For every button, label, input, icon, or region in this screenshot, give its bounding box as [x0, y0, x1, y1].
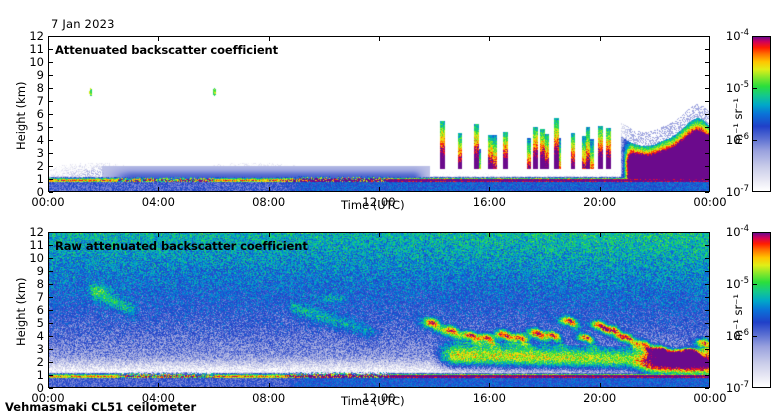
y-tick-label-panel1: 10	[17, 55, 44, 69]
panel-title-raw-attenuated-backscatter: Raw attenuated backscatter coefficient	[55, 239, 308, 253]
x-tick-panel2	[600, 383, 601, 387]
y-tick-right-panel2	[705, 362, 709, 363]
y-tick-label-panel2: 8	[17, 277, 44, 291]
x-tick-top-panel2	[709, 233, 710, 237]
y-tick-right-panel2	[705, 258, 709, 259]
x-tick-label-panel2: 08:00	[252, 391, 285, 405]
x-tick-panel1	[489, 187, 490, 191]
y-tick-panel2	[49, 349, 53, 350]
y-tick-panel2	[49, 271, 53, 272]
x-tick-top-panel1	[158, 37, 159, 41]
y-tick-panel1	[49, 101, 53, 102]
y-tick-right-panel1	[705, 127, 709, 128]
colorbar-gradient-panel2	[752, 232, 771, 388]
y-tick-right-panel2	[705, 271, 709, 272]
x-tick-top-panel2	[379, 233, 380, 237]
y-tick-panel1	[49, 49, 53, 50]
y-tick-label-panel1: 4	[17, 133, 44, 147]
x-tick-label-panel2: 20:00	[583, 391, 616, 405]
y-tick-right-panel2	[705, 388, 709, 389]
y-tick-panel1	[49, 153, 53, 154]
y-tick-right-panel1	[705, 114, 709, 115]
x-tick-top-panel2	[489, 233, 490, 237]
ceilometer-figure: 7 Jan 2023 Attenuated backscatter coeffi…	[0, 0, 780, 420]
colorbar-tick-panel1	[753, 36, 757, 37]
colorbar-tick-label-panel1: 10-4	[712, 29, 749, 43]
y-tick-label-panel1: 11	[17, 42, 44, 56]
y-tick-right-panel2	[705, 297, 709, 298]
colorbar-tick-panel2	[753, 336, 757, 337]
y-tick-label-panel1: 7	[17, 94, 44, 108]
y-tick-panel1	[49, 166, 53, 167]
y-tick-label-panel1: 6	[17, 107, 44, 121]
y-tick-label-panel1: 3	[17, 146, 44, 160]
x-tick-top-panel1	[600, 37, 601, 41]
y-tick-panel1	[49, 36, 53, 37]
x-tick-panel2	[709, 383, 710, 387]
y-tick-panel1	[49, 192, 53, 193]
x-tick-panel1	[600, 187, 601, 191]
colorbar-tick-panel1	[753, 88, 757, 89]
y-tick-label-panel2: 2	[17, 355, 44, 369]
colorbar-tick-label-panel1: 10-5	[712, 81, 749, 95]
y-tick-panel2	[49, 336, 53, 337]
y-tick-label-panel1: 8	[17, 81, 44, 95]
date-label: 7 Jan 2023	[51, 17, 115, 31]
y-tick-right-panel2	[705, 245, 709, 246]
colorbar-gradient-panel1	[752, 36, 771, 192]
colorbar-tick-label-panel1: 10-6	[712, 133, 749, 147]
y-tick-panel1	[49, 179, 53, 180]
y-tick-label-panel2: 5	[17, 316, 44, 330]
y-tick-panel2	[49, 258, 53, 259]
x-tick-label-panel2: 04:00	[142, 391, 175, 405]
y-tick-right-panel1	[705, 153, 709, 154]
y-tick-right-panel1	[705, 49, 709, 50]
x-tick-panel2	[489, 383, 490, 387]
x-tick-panel1	[709, 187, 710, 191]
y-tick-right-panel1	[705, 140, 709, 141]
plot-area-raw-attenuated-backscatter[interactable]	[48, 232, 710, 388]
y-tick-panel1	[49, 62, 53, 63]
y-tick-panel1	[49, 127, 53, 128]
x-tick-top-panel2	[269, 233, 270, 237]
plot-area-attenuated-backscatter[interactable]	[48, 36, 710, 192]
y-tick-right-panel2	[705, 310, 709, 311]
x-tick-top-panel1	[269, 37, 270, 41]
y-tick-label-panel2: 1	[17, 368, 44, 382]
x-tick-panel1	[48, 187, 49, 191]
y-tick-label-panel2: 11	[17, 238, 44, 252]
y-tick-label-panel2: 9	[17, 264, 44, 278]
y-tick-panel2	[49, 297, 53, 298]
colorbar-tick-panel1	[753, 140, 757, 141]
colorbar-tick-label-panel2: 10-6	[712, 329, 749, 343]
y-tick-right-panel2	[705, 336, 709, 337]
y-tick-panel2	[49, 362, 53, 363]
x-tick-top-panel1	[379, 37, 380, 41]
x-tick-top-panel1	[489, 37, 490, 41]
y-tick-panel2	[49, 388, 53, 389]
y-tick-label-panel1: 5	[17, 120, 44, 134]
y-tick-right-panel2	[705, 375, 709, 376]
x-tick-top-panel2	[600, 233, 601, 237]
y-tick-panel2	[49, 375, 53, 376]
x-tick-panel2	[269, 383, 270, 387]
y-tick-right-panel2	[705, 349, 709, 350]
y-tick-panel1	[49, 140, 53, 141]
y-tick-panel2	[49, 232, 53, 233]
colorbar-tick-panel2	[753, 284, 757, 285]
x-tick-label-panel1: 00:00	[31, 195, 64, 209]
x-tick-label-panel1: 12:00	[362, 195, 395, 209]
panel-title-attenuated-backscatter: Attenuated backscatter coefficient	[55, 43, 278, 57]
x-tick-label-panel1: 20:00	[583, 195, 616, 209]
y-tick-label-panel2: 4	[17, 329, 44, 343]
x-tick-panel2	[158, 383, 159, 387]
x-tick-panel2	[379, 383, 380, 387]
y-tick-right-panel2	[705, 323, 709, 324]
x-tick-panel1	[379, 187, 380, 191]
y-tick-label-panel1: 2	[17, 159, 44, 173]
y-tick-right-panel1	[705, 88, 709, 89]
x-tick-top-panel2	[158, 233, 159, 237]
x-tick-label-panel2: 16:00	[473, 391, 506, 405]
y-tick-panel1	[49, 75, 53, 76]
y-tick-label-panel2: 6	[17, 303, 44, 317]
y-tick-right-panel1	[705, 75, 709, 76]
y-tick-panel2	[49, 245, 53, 246]
y-tick-label-panel1: 9	[17, 68, 44, 82]
colorbar-tick-label-panel2: 10-7	[712, 381, 749, 395]
colorbar-tick-panel2	[753, 387, 757, 388]
colorbar-tick-panel2	[753, 232, 757, 233]
colorbar-tick-label-panel2: 10-5	[712, 277, 749, 291]
x-tick-label-panel1: 16:00	[473, 195, 506, 209]
y-tick-right-panel1	[705, 101, 709, 102]
y-tick-label-panel2: 12	[17, 225, 44, 239]
colorbar-tick-label-panel1: 10-7	[712, 185, 749, 199]
y-tick-label-panel2: 3	[17, 342, 44, 356]
x-tick-label-panel2: 12:00	[362, 391, 395, 405]
colorbar-tick-label-panel2: 10-4	[712, 225, 749, 239]
y-tick-panel2	[49, 310, 53, 311]
y-tick-right-panel1	[705, 166, 709, 167]
y-tick-panel2	[49, 284, 53, 285]
heatmap-canvas-attenuated-backscatter	[49, 37, 709, 191]
x-tick-panel1	[269, 187, 270, 191]
x-tick-top-panel1	[48, 37, 49, 41]
y-tick-label-panel2: 10	[17, 251, 44, 265]
y-tick-panel1	[49, 88, 53, 89]
heatmap-canvas-raw-attenuated-backscatter	[49, 233, 709, 387]
x-tick-panel2	[48, 383, 49, 387]
y-tick-right-panel1	[705, 179, 709, 180]
x-tick-panel1	[158, 187, 159, 191]
x-tick-label-panel1: 04:00	[142, 195, 175, 209]
y-tick-right-panel1	[705, 62, 709, 63]
y-tick-right-panel2	[705, 284, 709, 285]
y-tick-right-panel1	[705, 192, 709, 193]
x-tick-label-panel2: 00:00	[31, 391, 64, 405]
y-tick-label-panel1: 1	[17, 172, 44, 186]
y-tick-label-panel1: 12	[17, 29, 44, 43]
y-tick-label-panel2: 7	[17, 290, 44, 304]
x-tick-label-panel1: 08:00	[252, 195, 285, 209]
x-tick-top-panel2	[48, 233, 49, 237]
colorbar-tick-panel1	[753, 191, 757, 192]
x-tick-top-panel1	[709, 37, 710, 41]
y-tick-panel1	[49, 114, 53, 115]
y-tick-panel2	[49, 323, 53, 324]
